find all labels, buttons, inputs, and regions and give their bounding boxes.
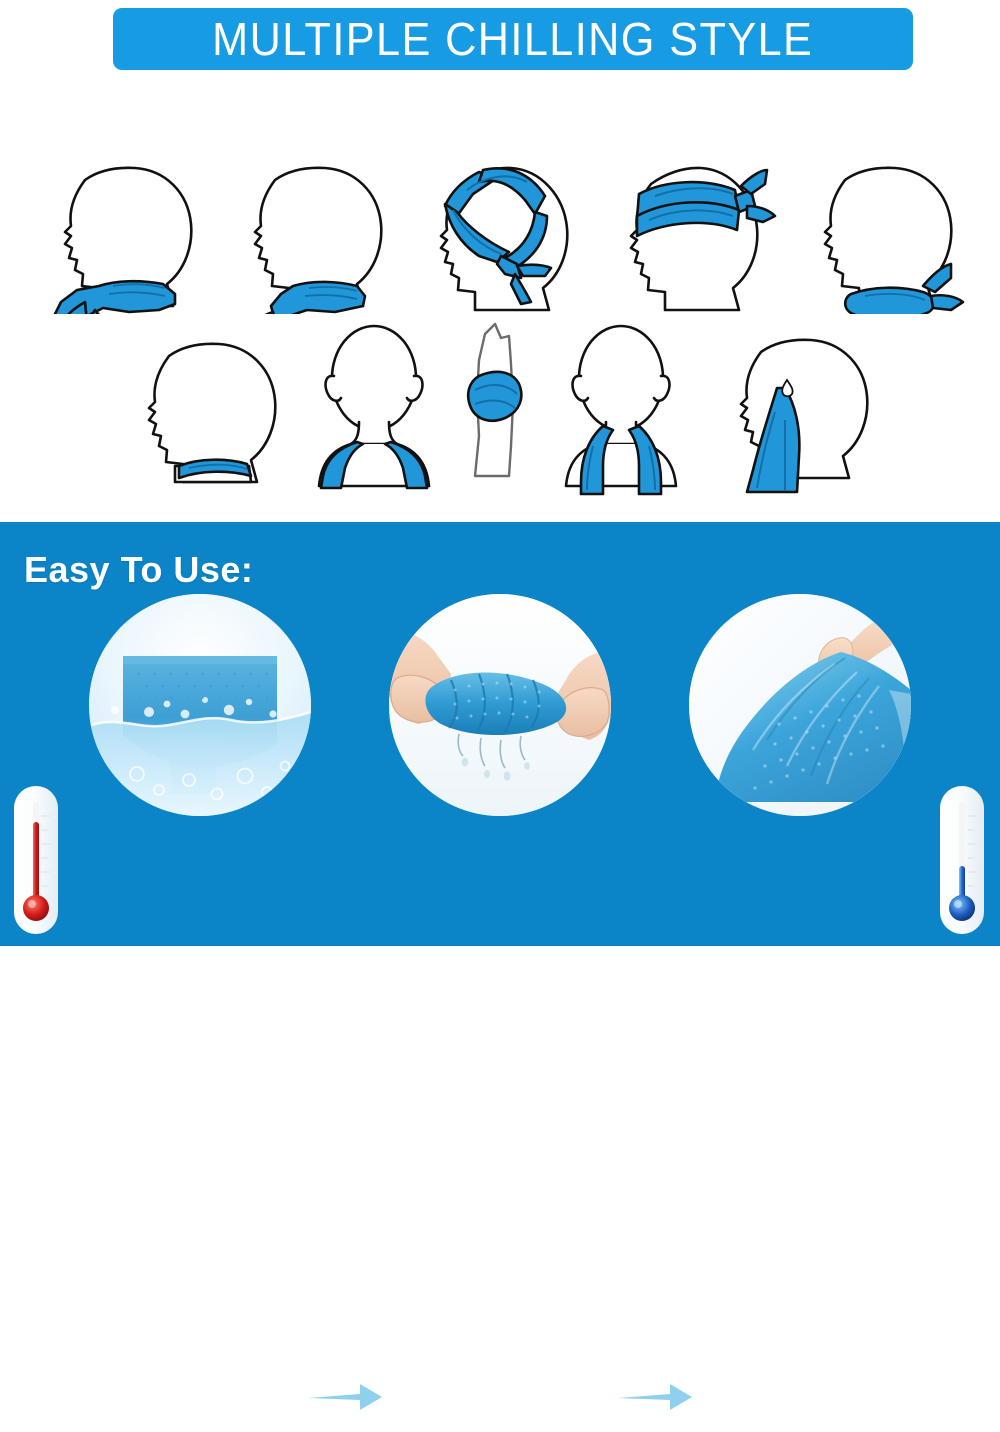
style-figure-collar-wrap <box>109 316 299 506</box>
thermometer-cold-icon <box>934 782 990 938</box>
arrow-right-icon-2 <box>616 1380 694 1414</box>
arrow-right-icon-1 <box>306 1380 384 1414</box>
steps-label-row: Soak It Wring It Shake It <box>0 1362 1000 1432</box>
style-figure-neck-scarf-back-knot <box>785 134 975 319</box>
style-figure-shoulder-drape <box>299 316 449 506</box>
easy-to-use-section: Easy To Use: <box>0 522 1000 946</box>
step-label-shake: Shake It <box>694 1378 926 1417</box>
towel-shape <box>53 281 175 314</box>
hand-shaking-towel-photo <box>689 594 911 816</box>
title-banner: MULTIPLE CHILLING STYLE <box>113 8 913 70</box>
style-row-2 <box>0 316 1000 501</box>
towel-shape <box>175 460 251 482</box>
hands-wringing-towel-photo <box>389 594 611 816</box>
towel-soaking-in-water-photo <box>89 594 311 816</box>
style-figure-head-wrap-diagonal <box>405 134 595 319</box>
style-figure-headband-horizontal <box>595 134 785 319</box>
towel-shape <box>468 372 521 421</box>
style-row-1 <box>0 134 1000 314</box>
style-figure-face-wipe <box>701 316 891 506</box>
step-label-wring: Wring It <box>384 1378 616 1417</box>
steps-photo-row <box>0 580 1000 830</box>
page-title: MULTIPLE CHILLING STYLE <box>212 16 813 62</box>
style-figure-wrist-wrap <box>449 316 541 506</box>
style-figure-neck-scarf-side-knot <box>215 134 405 319</box>
thermometer-hot-icon <box>8 782 64 938</box>
multiple-chilling-style-section: MULTIPLE CHILLING STYLE <box>0 0 1000 522</box>
step-label-soak: Soak It <box>74 1378 306 1417</box>
style-figure-neck-hang-towel <box>541 316 701 506</box>
towel-shape <box>251 282 365 314</box>
style-figure-neck-scarf-front-knot <box>25 134 215 319</box>
